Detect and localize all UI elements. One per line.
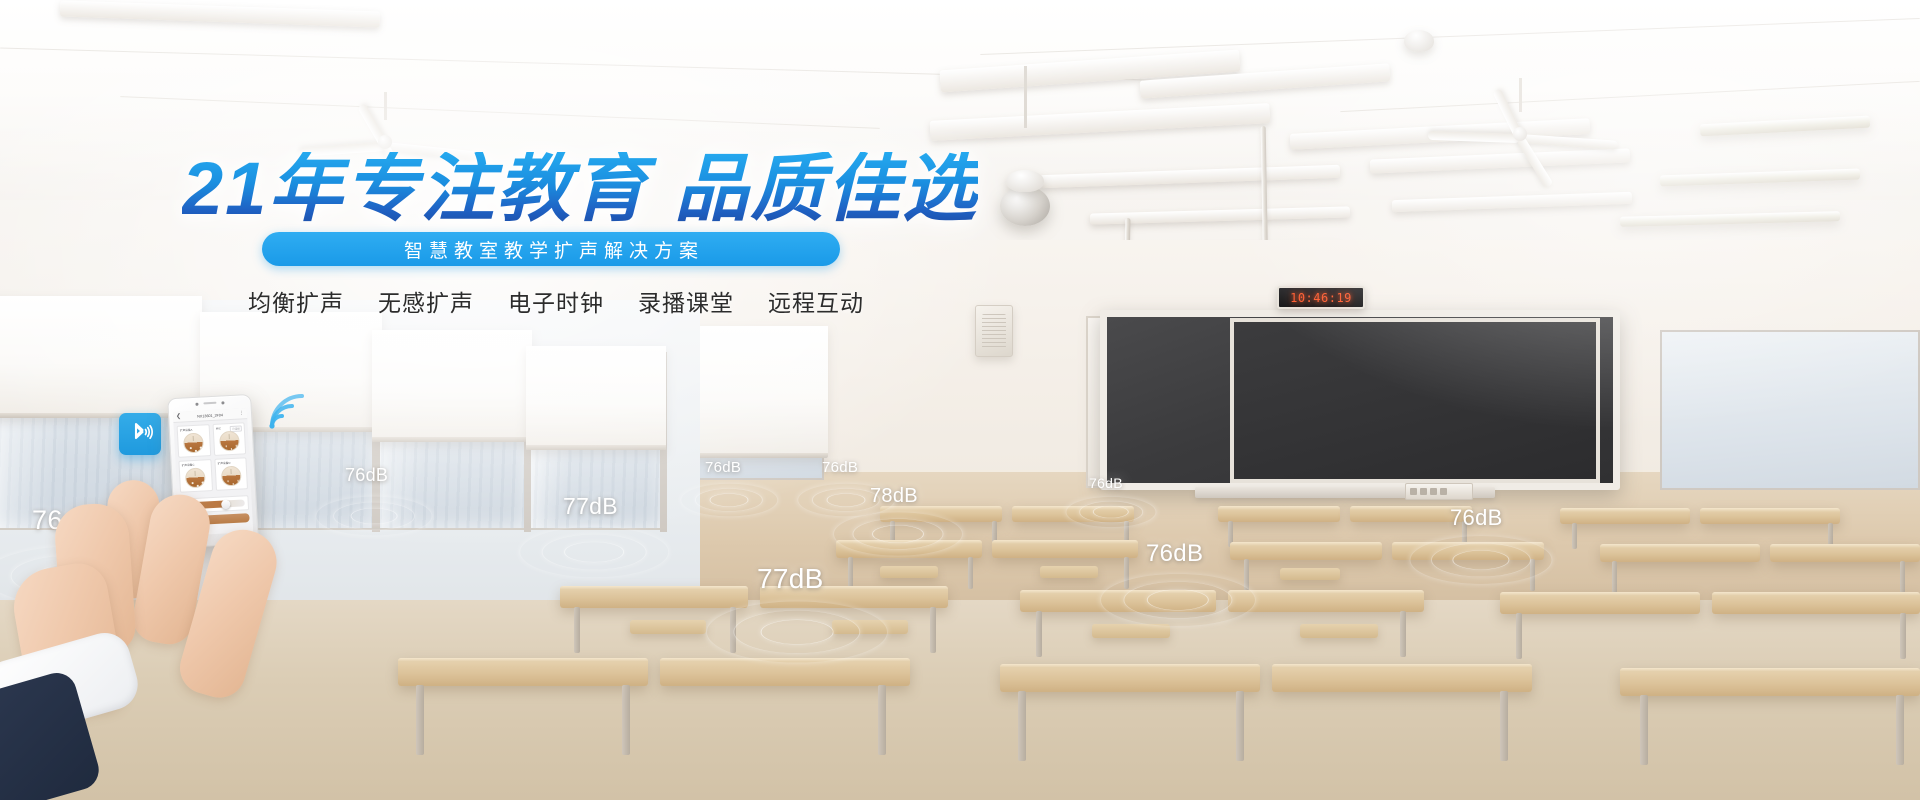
interactive-display [1230, 318, 1600, 483]
window-blind [372, 330, 532, 442]
display-control-panel [1405, 483, 1473, 500]
db-marker-6: 77dB [757, 563, 824, 595]
device-card-name: 扩声设备A [180, 427, 204, 432]
led-clock: 10:46:19 [1277, 286, 1365, 309]
bluetooth-icon [119, 413, 161, 455]
db-marker-5: 78dB [870, 485, 918, 508]
db-marker-7: 76dB [1089, 475, 1123, 491]
db-marker-3: 76dB [705, 459, 741, 476]
app-title: NX13601_2F04 [185, 411, 235, 418]
db-ripple-ring [519, 527, 669, 578]
hand-holding-phone [0, 470, 430, 800]
volume-knob[interactable] [183, 432, 204, 453]
ceiling-fan [1420, 112, 1620, 156]
window-blind [526, 346, 666, 450]
db-ripple-ring [1100, 573, 1256, 626]
device-card-name: 扩声设备D [217, 461, 241, 466]
knob-tick [200, 447, 202, 449]
page-title: 21年专注教育品质佳选 [182, 152, 978, 226]
feature-list: 均衡扩声无感扩声电子时钟录播课堂远程互动 [248, 284, 864, 318]
subtitle-pill: 智慧教室教学扩声解决方案 [262, 232, 840, 266]
front-camera-icon [195, 402, 198, 405]
speaker-mount [1006, 170, 1044, 192]
speaker-rod [1024, 66, 1027, 128]
headline-part-2: 品质佳选 [674, 147, 978, 230]
db-ripple-ring [833, 512, 963, 556]
feature-item-4: 远程互动 [768, 284, 864, 318]
db-marker-9: 76dB [1450, 505, 1503, 531]
feature-item-0: 均衡扩声 [248, 284, 344, 318]
feature-item-1: 无感扩声 [378, 284, 474, 318]
wall-speaker [975, 305, 1013, 357]
earpiece-grille [203, 402, 216, 405]
headline-part-1: 21年专注教育 [182, 147, 648, 230]
db-ripple-ring [680, 483, 778, 516]
volume-knob[interactable] [219, 431, 240, 452]
device-card-name: 扩声设备C [182, 462, 206, 467]
knob-tick [231, 448, 233, 450]
knob-tick [225, 445, 227, 447]
db-ripple-ring [706, 601, 888, 663]
knob-tick [195, 450, 197, 452]
knob-tick [190, 447, 192, 449]
db-ripple-ring [1066, 497, 1157, 528]
feature-item-2: 电子时钟 [508, 284, 604, 318]
back-window [1660, 330, 1920, 490]
sensor-icon [221, 401, 224, 404]
banner-stage: 10:46:19 [0, 0, 1920, 800]
db-marker-4: 76dB [822, 459, 858, 476]
fan-mount [1404, 30, 1434, 52]
db-marker-8: 76dB [1146, 540, 1203, 568]
device-card-1[interactable]: MIC已连接 [212, 422, 246, 456]
subtitle-text: 智慧教室教学扩声解决方案 [398, 236, 704, 263]
db-marker-2: 77dB [563, 493, 618, 520]
wifi-signal-icon [264, 386, 314, 430]
ceiling-speaker [1000, 186, 1050, 226]
more-vertical-icon[interactable]: ⋮ [239, 411, 244, 416]
db-ripple-ring [1410, 536, 1553, 585]
chevron-left-icon[interactable]: ❮ [176, 414, 181, 420]
knob-tick [235, 445, 237, 447]
clock-time: 10:46:19 [1290, 291, 1352, 305]
device-card-0[interactable]: 扩声设备A [177, 424, 211, 458]
feature-item-3: 录播课堂 [638, 284, 734, 318]
